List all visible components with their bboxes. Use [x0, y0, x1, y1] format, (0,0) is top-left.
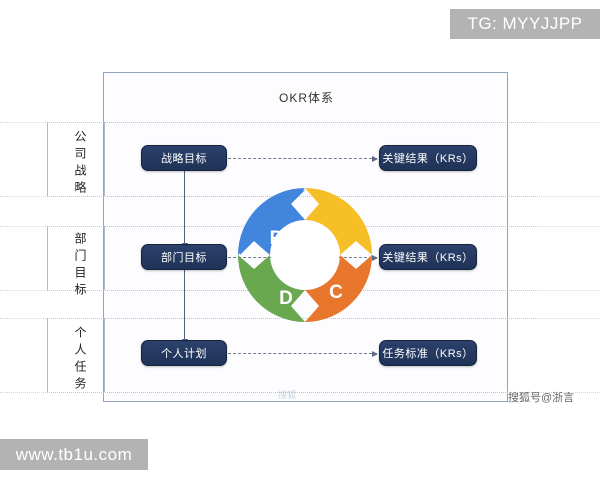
node-task-standard[interactable]: 任务标准（KRs） — [379, 340, 477, 366]
node-department-goal[interactable]: 部门目标 — [141, 244, 227, 270]
telegram-watermark-banner: TG: MYYJJPP — [450, 9, 600, 39]
pdca-label-d: D — [279, 288, 293, 309]
source-watermark: 搜狐号@浙言 — [508, 389, 574, 405]
pdca-wheel: P A C D — [236, 186, 374, 324]
pdca-label-a: A — [327, 236, 341, 257]
diagram-title: OKR体系 — [104, 89, 509, 106]
website-watermark-banner: www.tb1u.com — [0, 439, 148, 470]
label-column-divider — [104, 226, 105, 290]
node-strategic-goal[interactable]: 战略目标 — [141, 145, 227, 171]
link-strategy-to-kr — [228, 158, 377, 159]
pdca-label-c: C — [329, 282, 343, 303]
label-column-divider — [47, 226, 48, 290]
arrow-department-to-personal — [184, 270, 185, 339]
pdca-label-p: P — [270, 228, 283, 249]
node-personal-plan[interactable]: 个人计划 — [141, 340, 227, 366]
link-personal-to-kr — [228, 353, 377, 354]
arrow-strategy-to-department — [184, 171, 185, 243]
row-label-company-strategy: 公司战略 — [60, 130, 86, 188]
node-key-results-department[interactable]: 关键结果（KRs） — [379, 244, 477, 270]
label-column-divider — [47, 122, 48, 196]
center-watermark: 搜狐 — [278, 388, 296, 401]
label-column-divider — [104, 122, 105, 196]
node-key-results-company[interactable]: 关键结果（KRs） — [379, 145, 477, 171]
label-column-divider — [47, 318, 48, 392]
row-separator — [47, 122, 538, 123]
label-column-divider — [104, 318, 105, 392]
row-label-personal-task: 个人任务 — [60, 326, 86, 384]
row-label-department-goal: 部门目标 — [60, 232, 86, 284]
